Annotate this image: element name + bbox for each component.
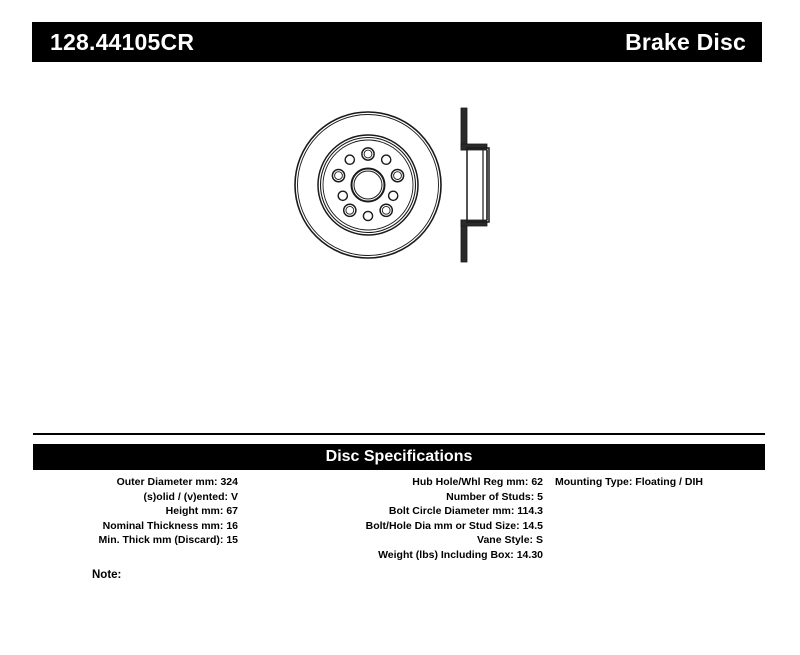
brake-disc-face-view [295, 112, 441, 258]
spec-row: Height mm: 67 [33, 504, 238, 519]
spec-label: Height mm: [166, 505, 224, 517]
spec-value: V [231, 491, 238, 503]
section-divider [33, 433, 765, 435]
spec-value: 324 [220, 476, 238, 488]
spec-value: S [536, 534, 543, 546]
spec-column-middle: Hub Hole/Whl Reg mm: 62 Number of Studs:… [238, 475, 543, 563]
spec-value: 14.30 [517, 549, 543, 561]
spec-row: Nominal Thickness mm: 16 [33, 519, 238, 534]
spec-row: Number of Studs: 5 [238, 490, 543, 505]
spec-label: Weight (lbs) Including Box: [378, 549, 514, 561]
spec-row: Weight (lbs) Including Box: 14.30 [238, 548, 543, 563]
spec-value: 67 [226, 505, 238, 517]
spec-value: 15 [226, 534, 238, 546]
spec-value: 5 [537, 491, 543, 503]
spec-value: Floating / DIH [635, 476, 703, 488]
spec-label: Min. Thick mm (Discard): [99, 534, 224, 546]
spec-row: Bolt Circle Diameter mm: 114.3 [238, 504, 543, 519]
spec-value: 14.5 [523, 520, 543, 532]
spec-column-right: Mounting Type: Floating / DIH [543, 475, 765, 490]
part-number-label: 128.44105CR [50, 31, 194, 54]
spec-label: Nominal Thickness mm: [103, 520, 224, 532]
spec-value: 114.3 [517, 505, 543, 517]
spec-row: Vane Style: S [238, 533, 543, 548]
disc-specifications-title: Disc Specifications [326, 449, 473, 465]
product-illustration [285, 100, 525, 280]
spec-row: Hub Hole/Whl Reg mm: 62 [238, 475, 543, 490]
spec-label: Outer Diameter mm: [117, 476, 218, 488]
specifications-table: Outer Diameter mm: 324 (s)olid / (v)ente… [33, 475, 765, 563]
disc-specifications-bar: Disc Specifications [33, 444, 765, 470]
spec-label: Vane Style: [477, 534, 533, 546]
note-label: Note: [92, 569, 121, 581]
spec-row: Min. Thick mm (Discard): 15 [33, 533, 238, 548]
spec-value: 16 [226, 520, 238, 532]
spec-label: (s)olid / (v)ented: [143, 491, 228, 503]
spec-row: Mounting Type: Floating / DIH [555, 475, 765, 490]
spec-column-left: Outer Diameter mm: 324 (s)olid / (v)ente… [33, 475, 238, 548]
spec-label: Hub Hole/Whl Reg mm: [412, 476, 528, 488]
brake-disc-edge-profile-view [461, 108, 489, 262]
spec-label: Bolt Circle Diameter mm: [389, 505, 514, 517]
spec-label: Bolt/Hole Dia mm or Stud Size: [366, 520, 520, 532]
spec-row: Outer Diameter mm: 324 [33, 475, 238, 490]
spec-row: Bolt/Hole Dia mm or Stud Size: 14.5 [238, 519, 543, 534]
vent-hole-group [338, 155, 398, 221]
note-row: Note: [92, 570, 121, 582]
product-type-label: Brake Disc [625, 31, 746, 54]
spec-label: Number of Studs: [446, 491, 534, 503]
spec-row: (s)olid / (v)ented: V [33, 490, 238, 505]
header-bar: 128.44105CR Brake Disc [32, 22, 762, 62]
spec-label: Mounting Type: [555, 476, 632, 488]
spec-value: 62 [531, 476, 543, 488]
